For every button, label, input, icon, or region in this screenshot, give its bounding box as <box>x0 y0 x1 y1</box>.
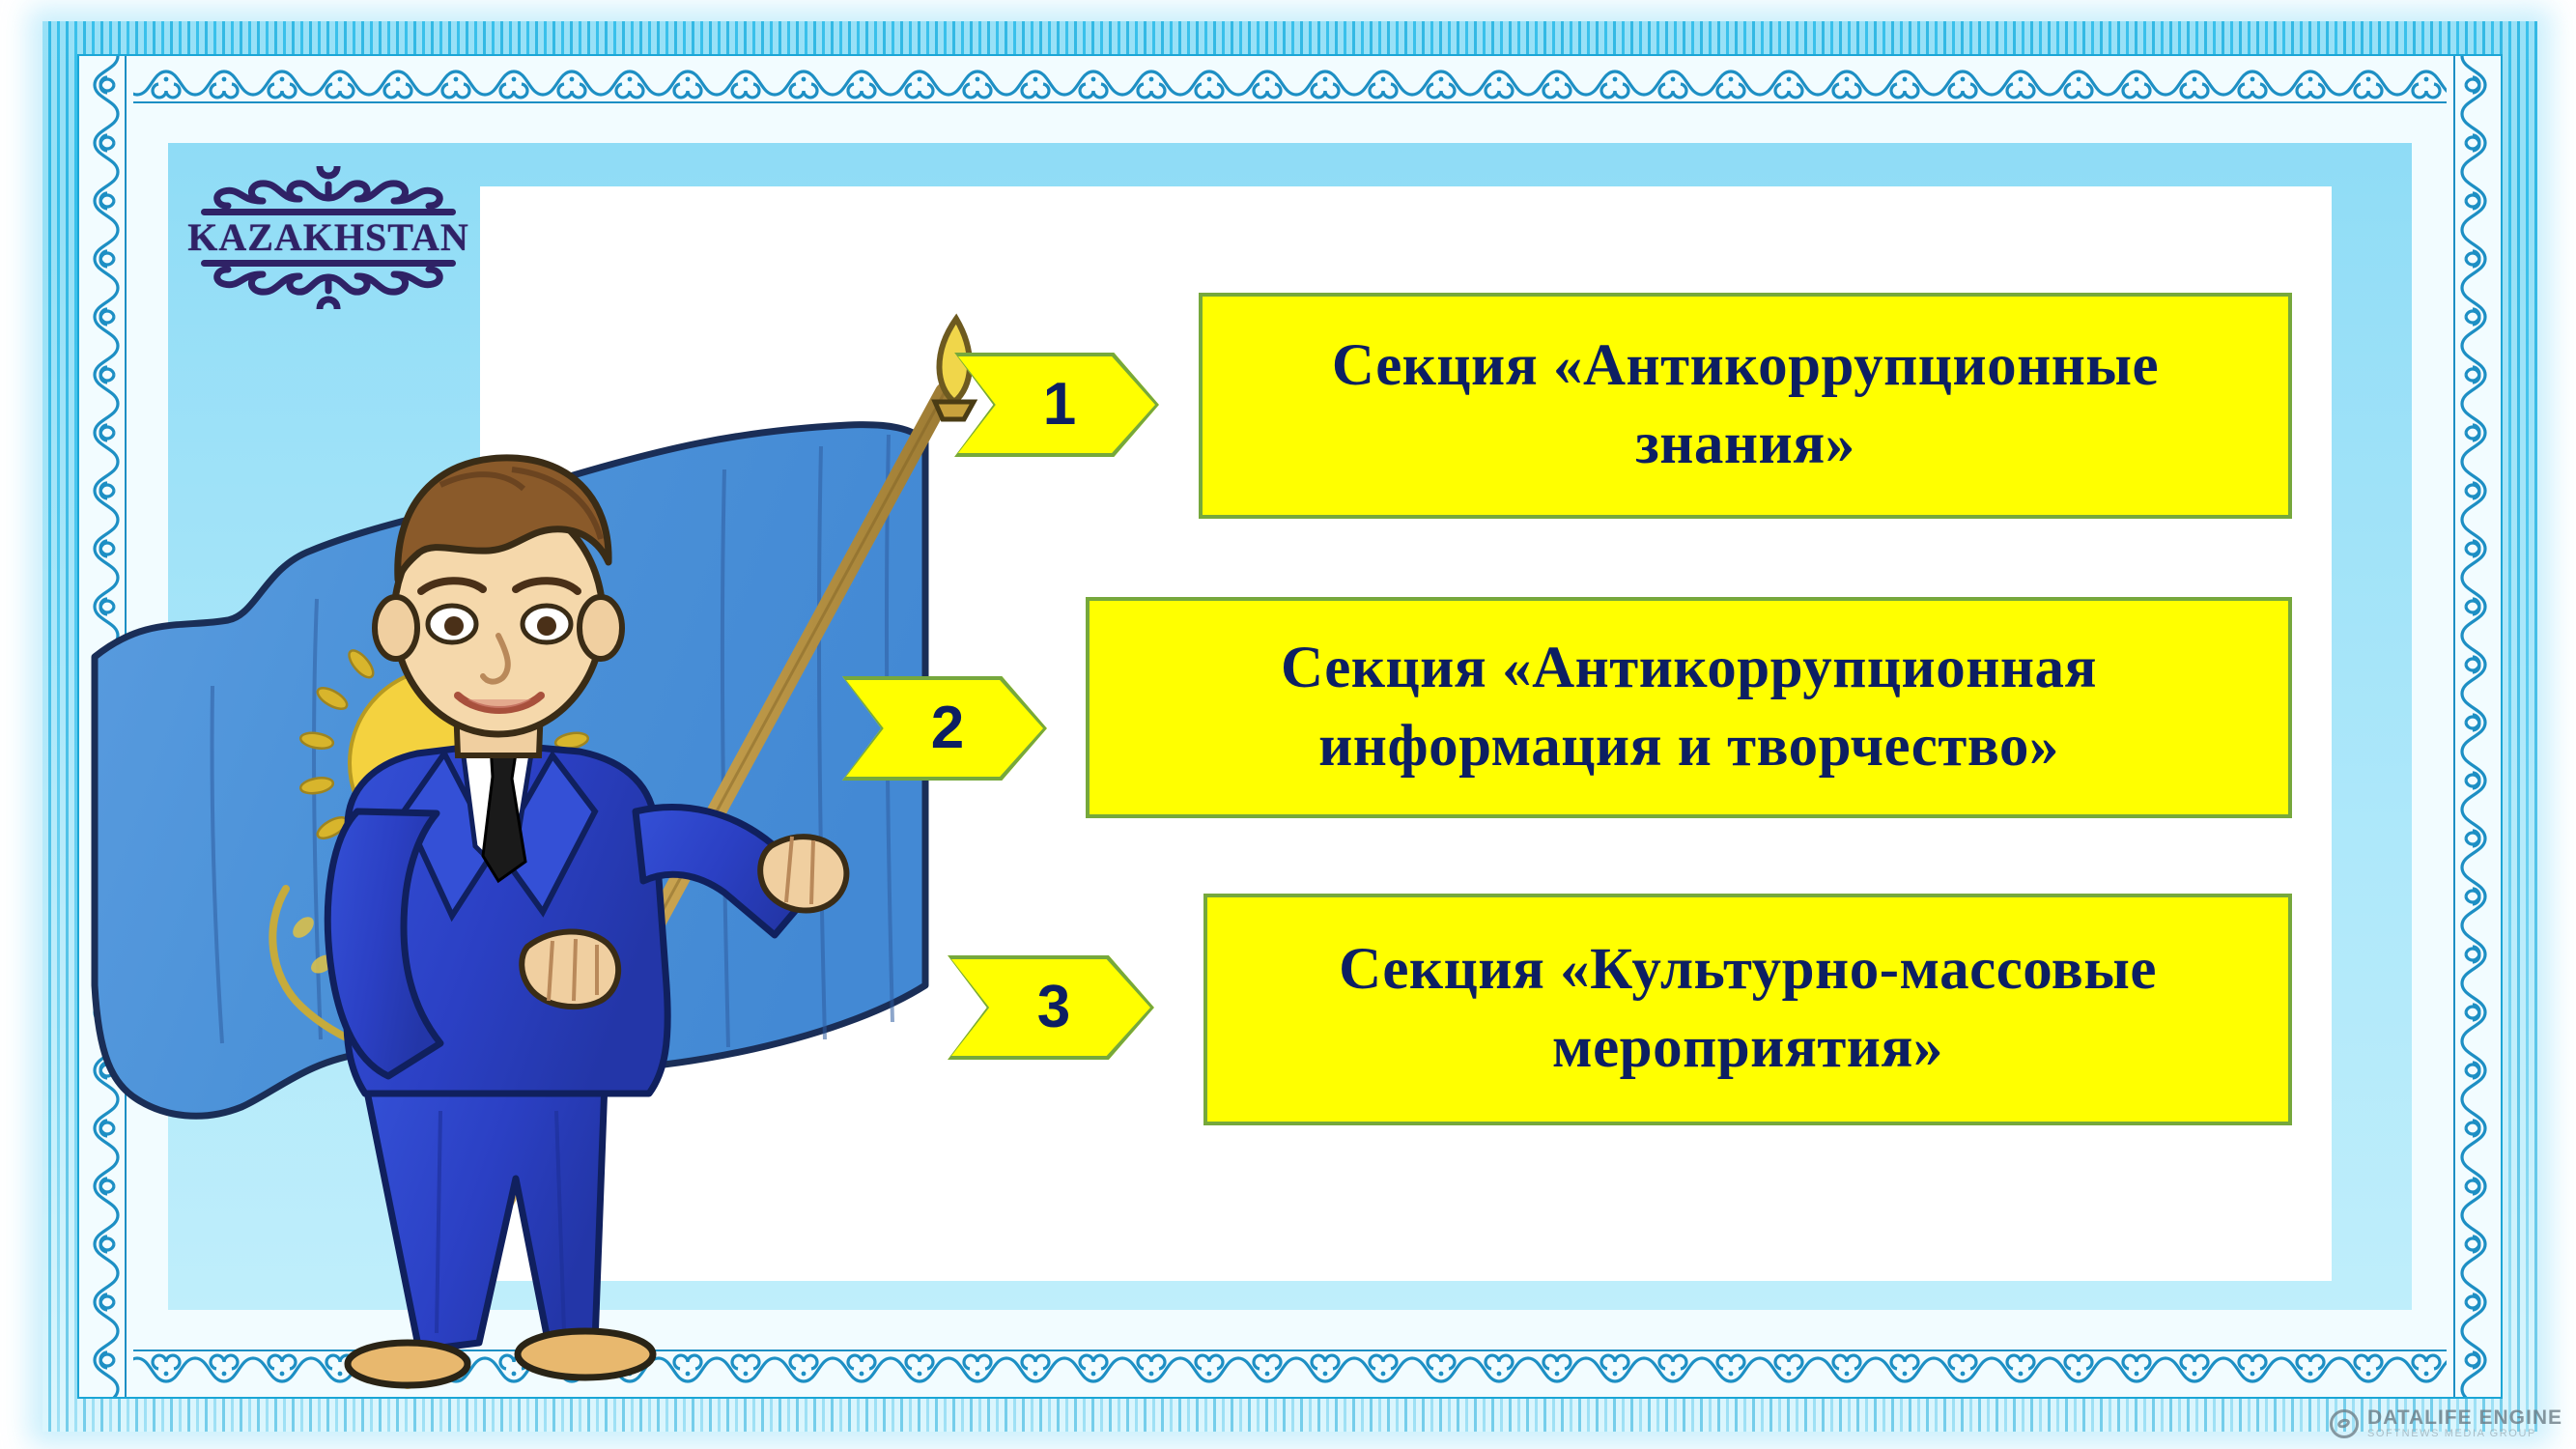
illustration-svg <box>58 309 1033 1410</box>
section-box-2[interactable]: Секция «Антикоррупционная информация и т… <box>1086 597 2292 818</box>
boy-with-flag-illustration <box>58 309 1033 1410</box>
watermark-text: DATALIFE ENGINE SOFTNEWS MEDIA GROUP <box>2367 1407 2562 1439</box>
section-box-3-line1: Секция «Культурно-массовые <box>1339 937 2157 1002</box>
section-box-1-text: Секция «Антикоррупционные знания» <box>1332 327 2159 483</box>
section-box-3[interactable]: Секция «Культурно-массовые мероприятия» <box>1203 894 2292 1125</box>
frame-motif-top <box>79 56 2501 110</box>
datalife-eye-icon <box>2330 1409 2359 1438</box>
slide-canvas: KAZAKHSTAN <box>0 0 2576 1449</box>
chevron-3-number: 3 <box>1037 978 1070 1037</box>
section-box-3-line2: мероприятия» <box>1552 1015 1943 1080</box>
chevron-2-number: 2 <box>931 698 964 758</box>
frame-motif-right <box>2447 56 2501 1397</box>
logo-wordmark: KAZAKHSTAN <box>187 218 469 257</box>
watermark-subtitle: SOFTNEWS MEDIA GROUP <box>2367 1429 2562 1439</box>
section-box-2-line2: информация и творчество» <box>1318 714 2059 779</box>
watermark-title: DATALIFE ENGINE <box>2367 1407 2562 1428</box>
logo-ornament-bottom <box>193 253 464 309</box>
kazakhstan-logo: KAZAKHSTAN <box>188 153 468 322</box>
logo-ornament-top <box>193 166 464 222</box>
section-box-1[interactable]: Секция «Антикоррупционные знания» <box>1199 293 2292 519</box>
section-box-1-line2: знания» <box>1635 412 1854 476</box>
watermark: DATALIFE ENGINE SOFTNEWS MEDIA GROUP <box>2330 1407 2562 1439</box>
section-box-2-line1: Секция «Антикоррупционная <box>1281 636 2097 700</box>
section-box-2-text: Секция «Антикоррупционная информация и т… <box>1281 630 2097 785</box>
section-box-3-text: Секция «Культурно-массовые мероприятия» <box>1339 931 2157 1087</box>
section-box-1-line1: Секция «Антикоррупционные <box>1332 333 2159 398</box>
chevron-1-number: 1 <box>1043 375 1076 435</box>
